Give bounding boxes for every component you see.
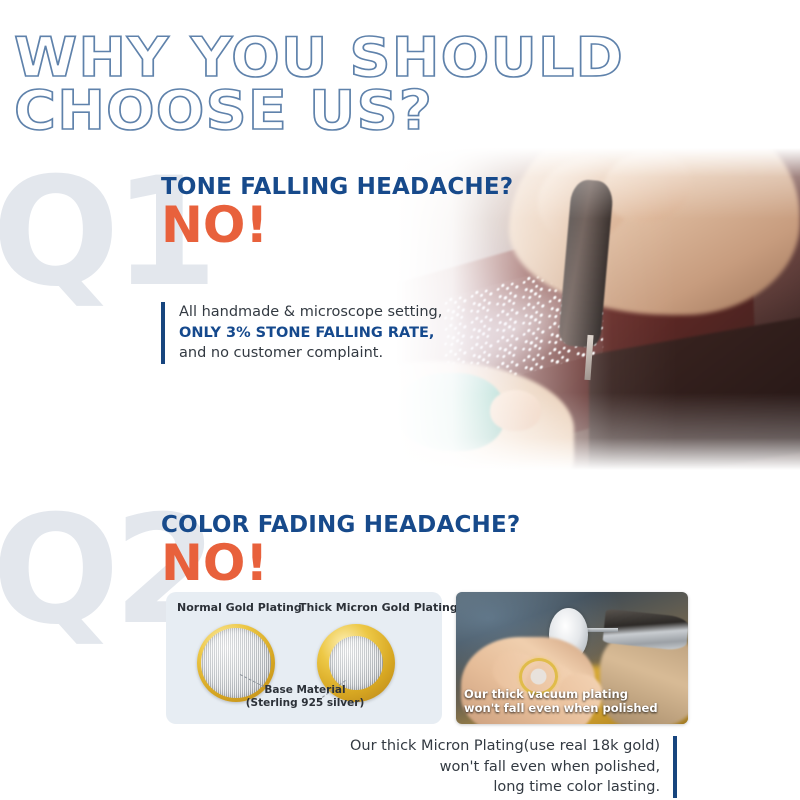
q1-body-lines: All handmade & microscope setting, ONLY … — [179, 302, 442, 364]
thick-plating-base-material — [329, 636, 383, 690]
polishing-photo-caption: Our thick vacuum plating won't fall even… — [464, 687, 658, 716]
polishing-photo: Our thick vacuum plating won't fall even… — [456, 592, 688, 724]
q2-answer: NO! — [161, 538, 268, 588]
promo-page: WHY YOU SHOULD CHOOSE US? Q1 TONE FALLIN… — [0, 0, 800, 800]
bottom-accent-bar — [673, 736, 677, 798]
q1-answer: NO! — [161, 200, 268, 250]
base-material-caption: Base Material (Sterling 925 silver) — [230, 684, 380, 711]
q1-body-line-1: All handmade & microscope setting, — [179, 302, 442, 323]
q1-body-line-2: ONLY 3% STONE FALLING RATE, — [179, 323, 442, 344]
page-title: WHY YOU SHOULD CHOOSE US? — [14, 32, 800, 138]
plating-comparison-panel: Normal Gold Plating Thick Micron Gold Pl… — [166, 592, 442, 724]
q1-body: All handmade & microscope setting, ONLY … — [161, 302, 442, 364]
bottom-body-text: Our thick Micron Plating(use real 18k go… — [350, 736, 660, 798]
thick-plating-label: Thick Micron Gold Plating — [299, 601, 458, 614]
bottom-body: Our thick Micron Plating(use real 18k go… — [350, 736, 677, 798]
q1-body-line-3: and no customer complaint. — [179, 343, 442, 364]
q1-accent-bar — [161, 302, 165, 364]
normal-plating-label: Normal Gold Plating — [177, 601, 302, 614]
